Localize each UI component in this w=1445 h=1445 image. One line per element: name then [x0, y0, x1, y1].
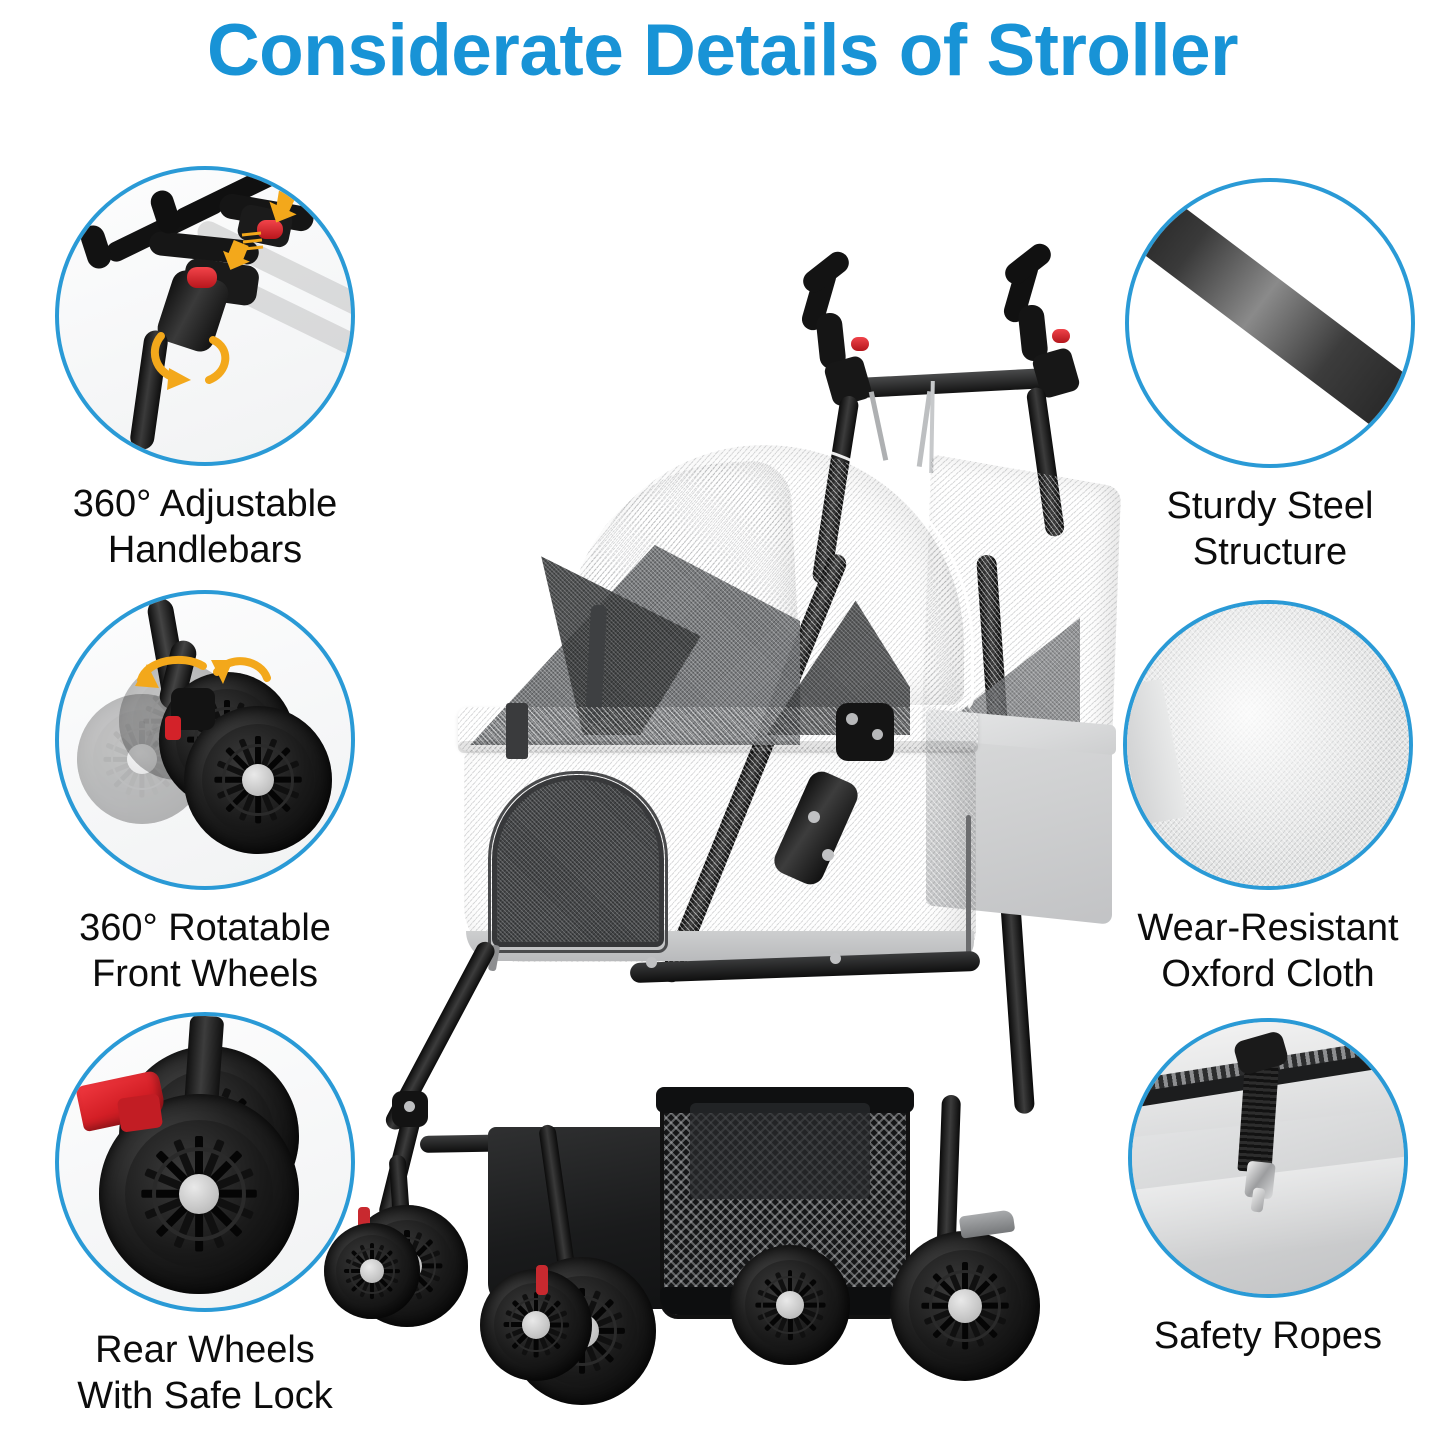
storage-basket-shadowpanel — [690, 1103, 870, 1199]
swivel-wheel-icon — [55, 590, 355, 890]
callout-caption: Wear-Resistant Oxford Cloth — [1108, 906, 1428, 997]
yellow-rotation-arrow-icon — [139, 306, 249, 398]
safety-strap-buckle-icon — [1128, 1018, 1408, 1298]
callout-caption: Safety Ropes — [1108, 1314, 1428, 1360]
yellow-arrow-down-icon — [264, 188, 306, 230]
callout-caption: Sturdy Steel Structure — [1110, 484, 1430, 575]
yellow-groove-lines-icon — [239, 230, 269, 256]
handlebar-joint-icon — [55, 166, 355, 466]
callout-caption: 360° Adjustable Handlebars — [40, 482, 370, 573]
oxford-fabric-icon — [1123, 600, 1413, 890]
steel-tube — [1125, 178, 1415, 468]
page-title: Considerate Details of Stroller — [0, 14, 1445, 88]
yellow-swivel-arrows-icon — [127, 642, 277, 702]
carrier-strap — [506, 703, 528, 759]
wheel-brake-lock-icon — [55, 1012, 355, 1312]
callout-adjustable-handlebars: 360° Adjustable Handlebars — [40, 166, 370, 573]
red-release-button-lower — [187, 267, 217, 288]
wheel-rear-inner — [730, 1245, 850, 1365]
callout-rear-wheels-safe-lock: Rear Wheels With Safe Lock — [40, 1012, 370, 1419]
callout-safety-ropes: Safety Ropes — [1108, 1018, 1428, 1360]
callout-sturdy-steel-structure: Sturdy Steel Structure — [1110, 178, 1430, 575]
front-door-zipper — [488, 771, 668, 953]
callout-caption: 360° Rotatable Front Wheels — [40, 906, 370, 997]
red-lock-tab — [165, 716, 181, 740]
callout-wear-resistant-oxford-cloth: Wear-Resistant Oxford Cloth — [1108, 600, 1428, 997]
infographic-canvas: Considerate Details of Stroller — [0, 0, 1445, 1445]
pet-stroller-image — [330, 255, 1120, 1320]
wheel-front-left-inner — [324, 1223, 420, 1319]
callout-rotatable-front-wheels: 360° Rotatable Front Wheels — [40, 590, 370, 997]
folding-hinge-upper — [836, 703, 894, 761]
wheel-rear-right — [890, 1231, 1040, 1381]
steel-tube-icon — [1125, 178, 1415, 468]
callout-caption: Rear Wheels With Safe Lock — [40, 1328, 370, 1419]
